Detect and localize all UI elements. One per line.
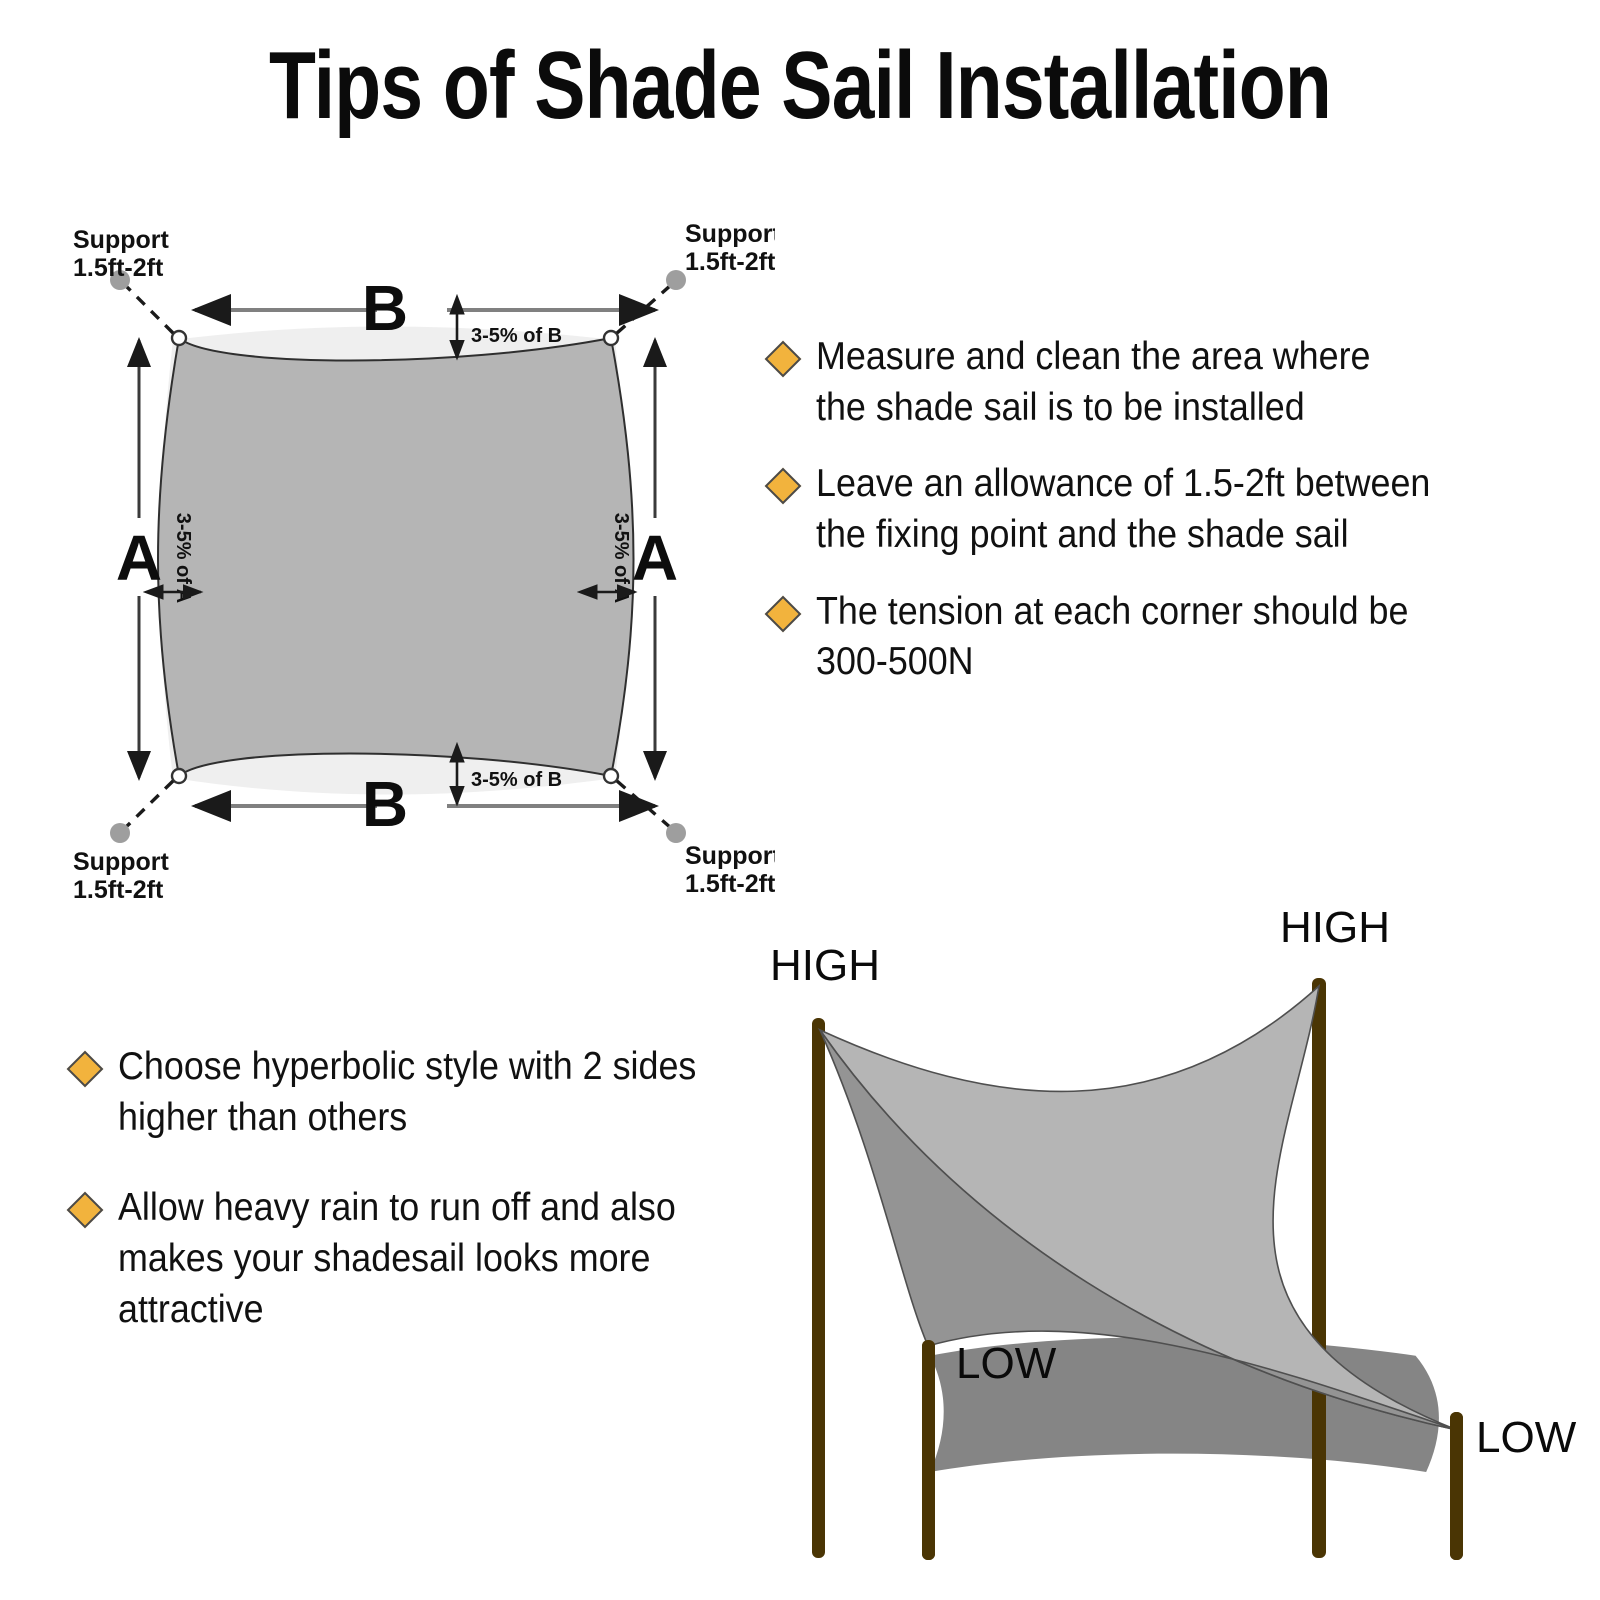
tip-item: The tension at each corner should be 300…: [770, 587, 1530, 688]
post-high-left: [812, 1018, 825, 1558]
tips-list-right: Measure and clean the area where the sha…: [770, 332, 1530, 714]
tip-item: Leave an allowance of 1.5-2ft between th…: [770, 459, 1530, 560]
diamond-bullet-icon: [67, 1192, 104, 1229]
support-line-top-left: [125, 285, 173, 333]
support-label-top-left-line1: Support: [73, 226, 169, 254]
corner-eyelet-top-right: [604, 331, 618, 345]
label-low-left: LOW: [956, 1339, 1057, 1388]
corner-eyelet-top-left: [172, 331, 186, 345]
support-label-bottom-left-line1: Support: [73, 848, 169, 876]
tip-item: Measure and clean the area where the sha…: [770, 332, 1530, 433]
curvature-label-right: 3-5% of A: [610, 513, 632, 603]
tip-item: Allow heavy rain to run off and also mak…: [72, 1183, 772, 1335]
tip-text: Allow heavy rain to run off and also mak…: [118, 1183, 676, 1335]
tip-item: Choose hyperbolic style with 2 sides hig…: [72, 1042, 772, 1143]
dim-label-a-left: A: [116, 522, 162, 594]
curvature-label-top: 3-5% of B: [471, 325, 562, 347]
support-label-top-right-line1: Support: [685, 220, 775, 248]
diamond-bullet-icon: [765, 468, 802, 505]
support-dot-bottom-right: [666, 823, 686, 843]
hyperbolic-sail-diagram: HIGH HIGH LOW LOW: [760, 900, 1600, 1560]
dim-label-a-right: A: [632, 522, 678, 594]
diamond-bullet-icon: [765, 595, 802, 632]
corner-eyelet-bottom-left: [172, 769, 186, 783]
support-line-bottom-left: [125, 781, 173, 828]
label-low-right: LOW: [1476, 1413, 1577, 1462]
curvature-label-bottom: 3-5% of B: [471, 769, 562, 791]
support-label-bottom-right-line2: 1.5ft-2ft: [685, 870, 775, 898]
tip-text: Choose hyperbolic style with 2 sides hig…: [118, 1042, 696, 1143]
support-dot-bottom-left: [110, 823, 130, 843]
post-high-right: [1312, 978, 1326, 1558]
tip-text: Measure and clean the area where the sha…: [816, 332, 1371, 433]
support-dot-top-right: [666, 270, 686, 290]
square-sail-diagram: Support 1.5ft-2ft Support 1.5ft-2ft Supp…: [55, 200, 775, 900]
diamond-bullet-icon: [67, 1051, 104, 1088]
post-low-left-front: [922, 1340, 935, 1560]
shade-sail-shape: [158, 338, 634, 776]
dim-label-b-top: B: [362, 272, 408, 344]
label-high-right: HIGH: [1280, 903, 1390, 952]
diamond-bullet-icon: [765, 341, 802, 378]
post-low-right-front: [1450, 1412, 1463, 1560]
tips-list-left: Choose hyperbolic style with 2 sides hig…: [72, 1042, 772, 1375]
support-label-bottom-left-line2: 1.5ft-2ft: [73, 876, 164, 900]
corner-eyelet-bottom-right: [604, 769, 618, 783]
curvature-label-left: 3-5% of A: [172, 513, 194, 603]
tip-text: The tension at each corner should be 300…: [816, 587, 1408, 688]
tip-text: Leave an allowance of 1.5-2ft between th…: [816, 459, 1430, 560]
support-label-bottom-right-line1: Support: [685, 842, 775, 870]
dim-label-b-bottom: B: [362, 768, 408, 840]
support-label-top-right-line2: 1.5ft-2ft: [685, 248, 775, 276]
support-label-top-left-line2: 1.5ft-2ft: [73, 254, 164, 282]
page-title: Tips of Shade Sail Installation: [160, 36, 1440, 137]
label-high-left: HIGH: [770, 941, 880, 990]
